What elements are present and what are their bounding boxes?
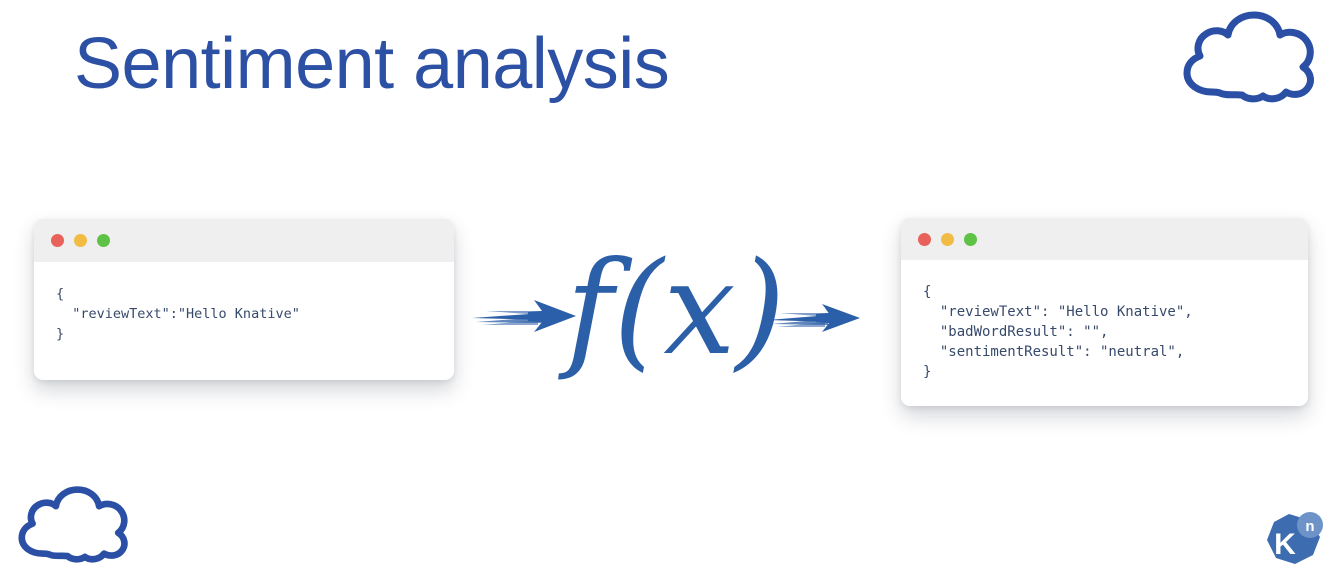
- close-button[interactable]: [51, 234, 64, 247]
- svg-text:K: K: [1274, 528, 1296, 561]
- svg-text:n: n: [1305, 518, 1314, 535]
- window-titlebar: [901, 218, 1308, 260]
- window-titlebar: [34, 219, 454, 262]
- input-json-code: { "reviewText":"Hello Knative" }: [56, 284, 454, 344]
- output-json-code: { "reviewText": "Hello Knative", "badWor…: [923, 282, 1308, 382]
- minimize-button[interactable]: [941, 233, 954, 246]
- window-body: { "reviewText":"Hello Knative" }: [34, 262, 454, 344]
- knative-logo-icon: K n: [1263, 510, 1325, 572]
- maximize-button[interactable]: [97, 234, 110, 247]
- arrow-right-out-icon: [768, 301, 862, 337]
- maximize-button[interactable]: [964, 233, 977, 246]
- output-code-window: { "reviewText": "Hello Knative", "badWor…: [901, 218, 1308, 406]
- page-title: Sentiment analysis: [74, 28, 669, 100]
- minimize-button[interactable]: [74, 234, 87, 247]
- input-code-window: { "reviewText":"Hello Knative" }: [34, 219, 454, 380]
- close-button[interactable]: [918, 233, 931, 246]
- cloud-top-right-icon: [1168, 4, 1328, 104]
- slide-canvas: Sentiment analysis { "reviewText":"Hello…: [0, 0, 1341, 585]
- arrow-right-in-icon: [472, 296, 580, 338]
- function-label: f(x): [566, 246, 785, 374]
- cloud-bottom-left-icon: [6, 480, 139, 564]
- window-body: { "reviewText": "Hello Knative", "badWor…: [901, 260, 1308, 382]
